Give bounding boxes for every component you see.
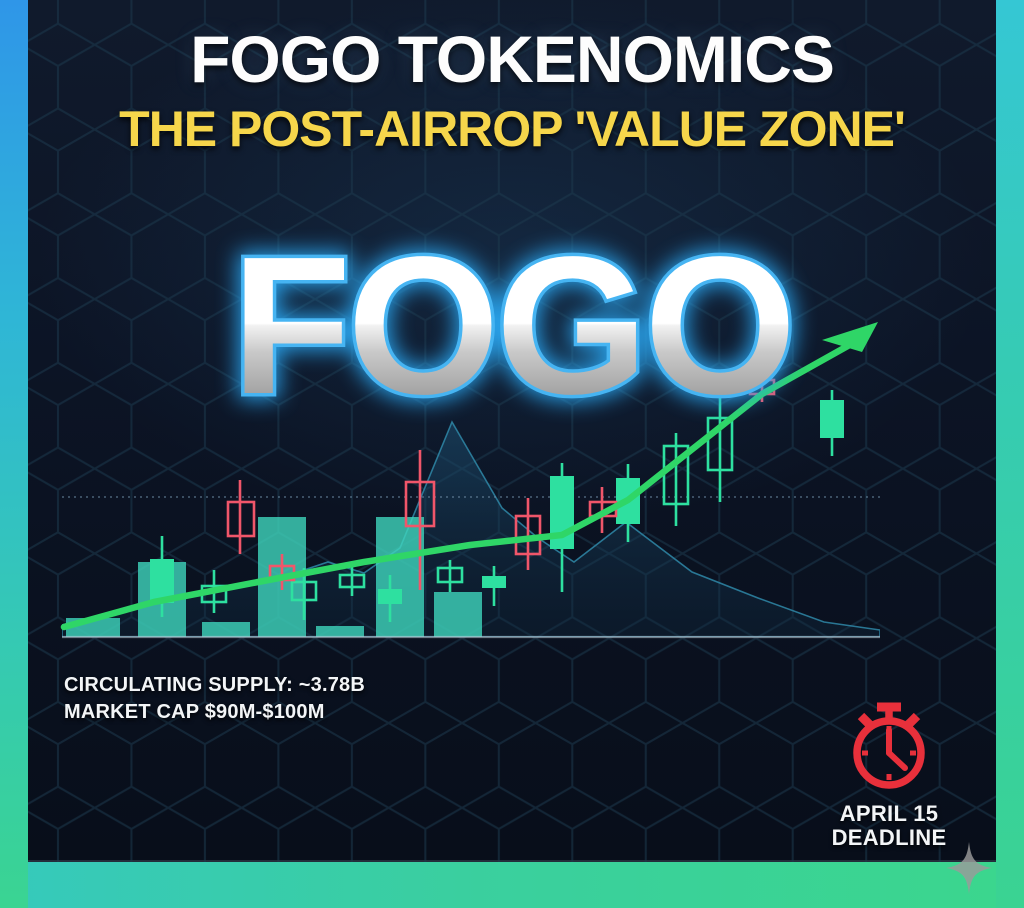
stopwatch-icon [839, 696, 939, 796]
fogo-wordmark: FOGO FOGO FOGO [0, 236, 1024, 416]
market-cap-line: MARKET CAP $90M-$100M [64, 699, 365, 726]
fogo-wordmark-text: FOGO [231, 216, 792, 435]
page-subtitle: THE POST-AIRROP 'VALUE ZONE' [0, 104, 1024, 154]
deadline-block: APRIL 15 DEADLINE [806, 696, 972, 850]
token-stats: CIRCULATING SUPPLY: ~3.78B MARKET CAP $9… [64, 672, 365, 726]
sparkle-icon [946, 842, 992, 894]
poster-canvas: FOGO TOKENOMICS THE POST-AIRROP 'VALUE Z… [0, 0, 1024, 908]
page-title: FOGO TOKENOMICS [0, 26, 1024, 92]
circulating-supply-line: CIRCULATING SUPPLY: ~3.78B [64, 672, 365, 699]
deadline-date: APRIL 15 [806, 802, 972, 826]
poster-header: FOGO TOKENOMICS THE POST-AIRROP 'VALUE Z… [0, 26, 1024, 154]
